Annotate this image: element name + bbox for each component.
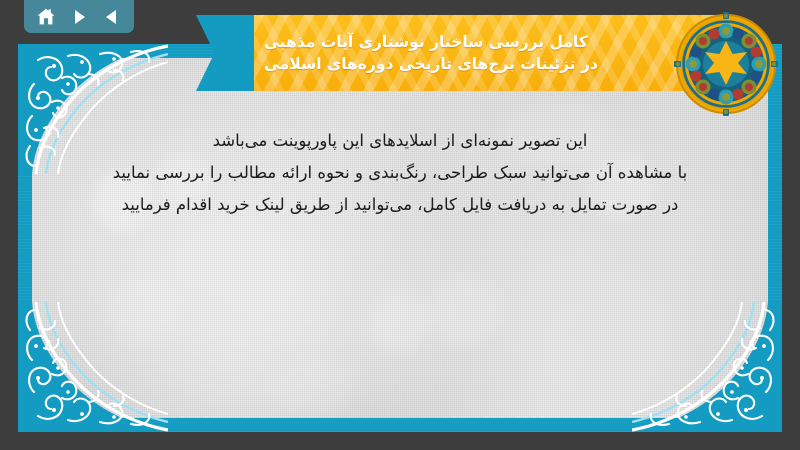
body-line: با مشاهده آن می‌توانید سبک طراحی، رنگ‌بن…: [60, 157, 740, 189]
slide-body-text: این تصویر نمونه‌ای از اسلایدهای این پاور…: [60, 125, 740, 222]
triangle-left-icon: [103, 8, 121, 26]
home-button[interactable]: [34, 5, 58, 29]
previous-slide-button[interactable]: [100, 5, 124, 29]
bokeh-circle: [110, 276, 178, 344]
islamic-medallion-ornament: [674, 12, 778, 116]
slide-canvas: کامل بررسی ساختار نوشتاری آیات مذهبی در …: [0, 0, 800, 450]
next-slide-button[interactable]: [67, 5, 91, 29]
home-icon: [36, 7, 56, 27]
triangle-right-icon: [70, 8, 88, 26]
slide-title-line-2: در تزئینات برج‌های تاریخی دوره‌های اسلام…: [264, 53, 598, 75]
slide-title-line-1: کامل بررسی ساختار نوشتاری آیات مذهبی: [264, 31, 588, 53]
slide-content-background: [32, 58, 768, 418]
bokeh-circle: [268, 358, 358, 412]
bokeh-circle: [368, 290, 430, 352]
banner-ribbon-tail: [196, 15, 262, 91]
banner-body: کامل بررسی ساختار نوشتاری آیات مذهبی در …: [254, 15, 732, 91]
bokeh-circle: [430, 274, 502, 346]
body-line: در صورت تمایل به دریافت فایل کامل، می‌تو…: [60, 189, 740, 221]
slide-navigation-bar: [24, 0, 134, 33]
body-line: این تصویر نمونه‌ای از اسلایدهای این پاور…: [60, 125, 740, 157]
